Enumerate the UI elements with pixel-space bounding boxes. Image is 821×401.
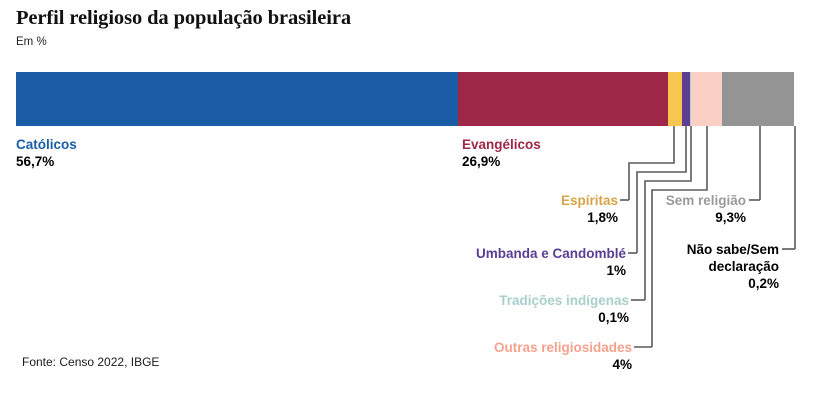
segment-label-evangelicos-name: Evangélicos bbox=[462, 136, 541, 153]
segment-value-evangelicos: 26,9% bbox=[462, 153, 541, 171]
segment-value-nao-sabe: 0,2% bbox=[620, 275, 779, 293]
segment-value-sem-religiao: 9,3% bbox=[640, 209, 746, 227]
segment-label-nao-sabe-name: Não sabe/Sem declaração bbox=[620, 241, 779, 275]
segment-label-catolicos-name: Católicos bbox=[16, 136, 77, 153]
segment-label-catolicos: Católicos 56,7% bbox=[16, 136, 77, 171]
bar-segment-7 bbox=[794, 72, 796, 126]
segment-label-nao-sabe: Não sabe/Sem declaração 0,2% bbox=[620, 241, 779, 293]
bar-segment-3 bbox=[682, 72, 690, 126]
segment-label-sem-religiao-name: Sem religião bbox=[640, 192, 746, 209]
bar-segment-2 bbox=[668, 72, 682, 126]
segment-value-indigenas: 0,1% bbox=[305, 309, 629, 327]
page-title: Perfil religioso da população brasileira bbox=[16, 7, 351, 30]
segment-label-umbanda-name: Umbanda e Candomblé bbox=[305, 245, 626, 262]
bar-segment-0 bbox=[16, 72, 458, 126]
segment-value-outras: 4% bbox=[305, 356, 632, 374]
chart-container: Perfil religioso da população brasileira… bbox=[0, 0, 821, 401]
segment-value-espiritas: 1,8% bbox=[305, 209, 618, 227]
stacked-bar bbox=[16, 72, 796, 126]
bar-segment-1 bbox=[458, 72, 668, 126]
segment-label-umbanda: Umbanda e Candomblé 1% bbox=[305, 245, 626, 280]
segment-label-indigenas: Tradições indígenas 0,1% bbox=[305, 292, 629, 327]
chart-subtitle-unit: Em % bbox=[16, 36, 47, 48]
segment-label-espiritas: Espíritas 1,8% bbox=[305, 192, 618, 227]
segment-value-catolicos: 56,7% bbox=[16, 153, 77, 171]
bar-segment-6 bbox=[722, 72, 795, 126]
segment-label-outras: Outras religiosidades 4% bbox=[305, 339, 632, 374]
segment-label-sem-religiao: Sem religião 9,3% bbox=[640, 192, 746, 227]
segment-label-outras-name: Outras religiosidades bbox=[305, 339, 632, 356]
source-note: Fonte: Censo 2022, IBGE bbox=[22, 355, 159, 369]
bar-segment-5 bbox=[691, 72, 722, 126]
segment-label-indigenas-name: Tradições indígenas bbox=[305, 292, 629, 309]
segment-label-evangelicos: Evangélicos 26,9% bbox=[462, 136, 541, 171]
segment-label-espiritas-name: Espíritas bbox=[305, 192, 618, 209]
segment-value-umbanda: 1% bbox=[305, 262, 626, 280]
